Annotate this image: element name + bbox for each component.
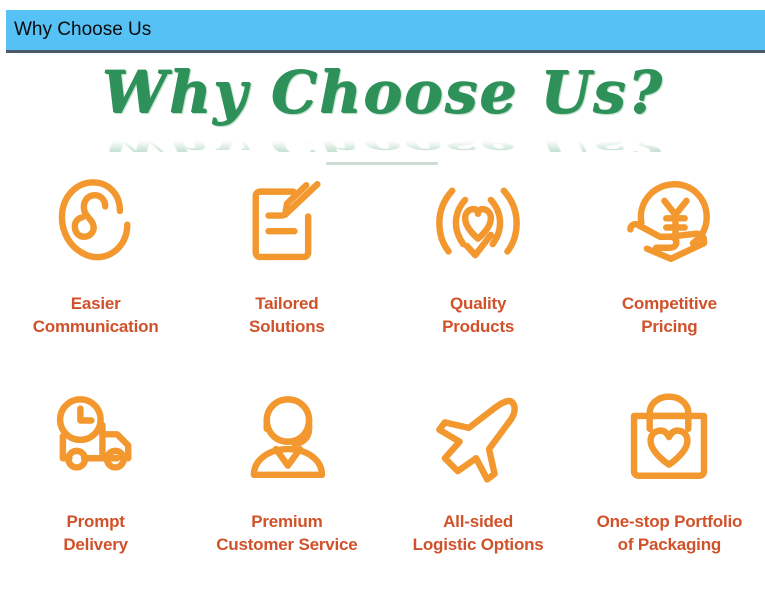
feature-item-premium-customer-service[interactable]: Premium Customer Service [191, 390, 382, 606]
feature-label: One-stop Portfolio of Packaging [597, 510, 743, 556]
feature-item-competitive-pricing[interactable]: Competitive Pricing [574, 174, 765, 390]
feature-label: Premium Customer Service [216, 510, 357, 556]
feature-label: All-sided Logistic Options [413, 510, 544, 556]
feature-grid: Easier Communication Tailored Solutions [0, 174, 765, 606]
shopping-bag-heart-icon [621, 390, 717, 486]
airplane-icon [430, 390, 526, 486]
page-content: Why Choose Us? Why Choose Us? Easier Com… [0, 56, 765, 599]
feature-item-one-stop-portfolio-of-packaging[interactable]: One-stop Portfolio of Packaging [574, 390, 765, 606]
feature-label: Prompt Delivery [63, 510, 128, 556]
feature-item-quality-products[interactable]: Quality Products [383, 174, 574, 390]
feature-label: Tailored Solutions [249, 292, 325, 338]
feature-item-all-sided-logistic-options[interactable]: All-sided Logistic Options [383, 390, 574, 606]
headset-agent-icon [239, 390, 335, 486]
feature-item-prompt-delivery[interactable]: Prompt Delivery [0, 390, 191, 606]
feature-row-2: Prompt Delivery Premium Customer Service [0, 390, 765, 606]
document-pencil-icon [239, 174, 335, 270]
feature-label: Quality Products [442, 292, 514, 338]
heart-waves-check-icon [430, 174, 526, 270]
page-title-reflection: Why Choose Us? [0, 139, 765, 152]
page-title: Why Choose Us? [102, 58, 664, 126]
window-title: Why Choose Us [14, 19, 151, 41]
hand-holding-yen-coin-icon [621, 174, 717, 270]
feature-label: Easier Communication [33, 292, 159, 338]
feature-label: Competitive Pricing [622, 292, 717, 338]
ear-listening-icon [48, 174, 144, 270]
feature-item-easier-communication[interactable]: Easier Communication [0, 174, 191, 390]
delivery-truck-clock-icon [48, 390, 144, 486]
window-header-bar: Why Choose Us [6, 10, 765, 53]
hero-section: Why Choose Us? Why Choose Us? [0, 56, 765, 168]
feature-item-tailored-solutions[interactable]: Tailored Solutions [191, 174, 382, 390]
feature-row-1: Easier Communication Tailored Solutions [0, 174, 765, 390]
hero-divider [326, 162, 438, 165]
